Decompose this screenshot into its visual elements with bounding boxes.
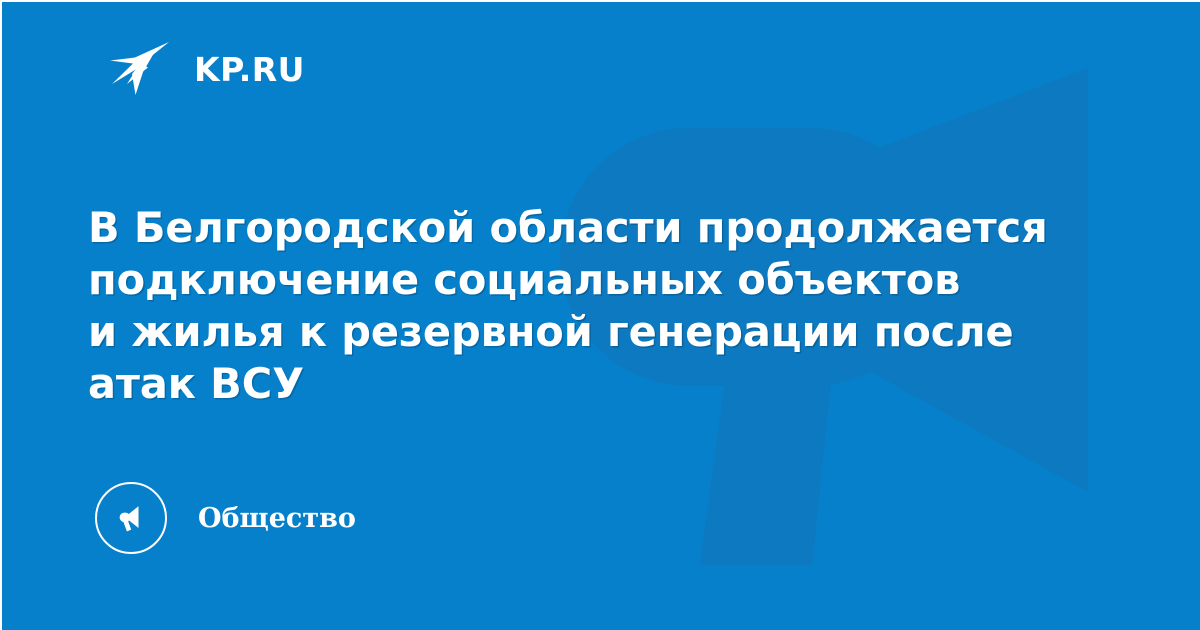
kp-swallow-logo-icon bbox=[108, 40, 170, 98]
social-share-card: KP.RU В Белгородской области продолжаетс… bbox=[0, 0, 1200, 630]
megaphone-icon bbox=[95, 482, 167, 554]
category-label: Общество bbox=[198, 505, 356, 532]
headline: В Белгородской области продолжается подк… bbox=[88, 202, 1118, 410]
headline-line-3: и жилья к резервной генерации после bbox=[88, 306, 1118, 358]
brand-row[interactable]: KP.RU bbox=[108, 38, 305, 100]
category-badge[interactable]: Общество bbox=[95, 482, 356, 554]
brand-name: KP.RU bbox=[194, 53, 305, 86]
headline-line-1: В Белгородской области продолжается bbox=[88, 202, 1118, 254]
headline-line-4: атак ВСУ bbox=[88, 358, 1118, 410]
headline-line-2: подключение социальных объектов bbox=[88, 254, 1118, 306]
